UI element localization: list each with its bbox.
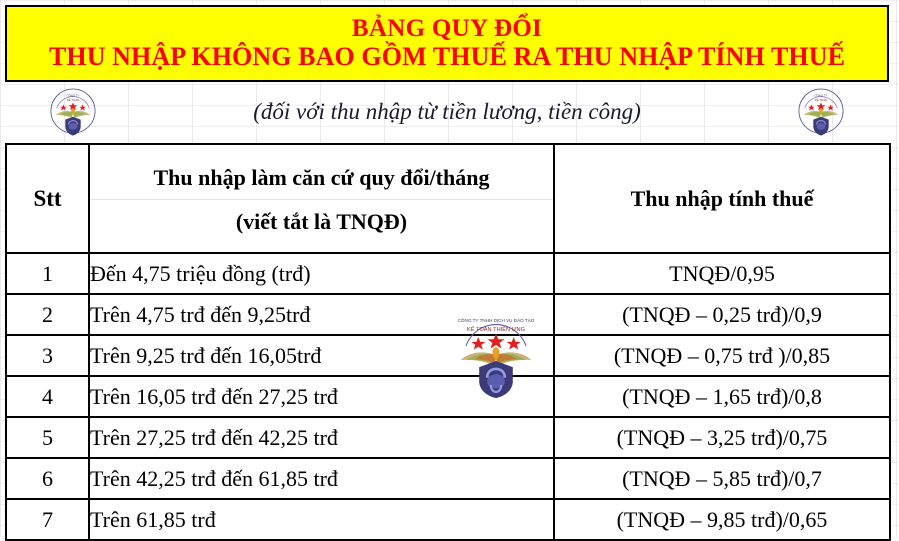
column-header-stt: Stt <box>6 144 89 253</box>
row-5-stt: 5 <box>6 417 89 458</box>
title-line-1: BẢNG QUY ĐỔI <box>352 15 542 42</box>
row-2-tax: (TNQĐ – 0,25 trđ)/0,9 <box>554 294 890 335</box>
row-7-tax: (TNQĐ – 9,85 trđ)/0,65 <box>554 499 890 540</box>
title-banner: BẢNG QUY ĐỔI THU NHẬP KHÔNG BAO GỒM THUẾ… <box>5 5 889 82</box>
row-1-base: Đến 4,75 triệu đồng (trđ) <box>89 253 554 294</box>
svg-text:CÔNG TY: CÔNG TY <box>66 93 79 98</box>
column-header-base-income-line2: (viết tắt là TNQĐ) <box>90 200 553 242</box>
row-6-tax: (TNQĐ – 5,85 trđ)/0,7 <box>554 458 890 499</box>
row-4-stt: 4 <box>6 376 89 417</box>
column-header-base-income: Thu nhập làm căn cứ quy đổi/tháng (viết … <box>89 144 554 253</box>
row-4-tax: (TNQĐ – 1,65 trđ)/0,8 <box>554 376 890 417</box>
row-6-stt: 6 <box>6 458 89 499</box>
subtitle-strip: CÔNG TY KẾ TOÁN (đối với thu nhập từ tiề… <box>5 84 889 140</box>
row-2-base: Trên 4,75 trđ đến 9,25trđ <box>89 294 554 335</box>
svg-text:KẾ TOÁN: KẾ TOÁN <box>67 97 80 102</box>
table-row: 7 Trên 61,85 trđ (TNQĐ – 9,85 trđ)/0,65 <box>6 499 890 540</box>
row-6-base: Trên 42,25 trđ đến 61,85 trđ <box>89 458 554 499</box>
table-row: 6 Trên 42,25 trđ đến 61,85 trđ (TNQĐ – 5… <box>6 458 890 499</box>
table-row: 3 Trên 9,25 trđ đến 16,05trđ (TNQĐ – 0,7… <box>6 335 890 376</box>
row-3-tax: (TNQĐ – 0,75 trđ )/0,85 <box>554 335 890 376</box>
table-row: 4 Trên 16,05 trđ đến 27,25 trđ (TNQĐ – 1… <box>6 376 890 417</box>
row-3-stt: 3 <box>6 335 89 376</box>
row-3-base: Trên 9,25 trđ đến 16,05trđ <box>89 335 554 376</box>
row-2-stt: 2 <box>6 294 89 335</box>
tax-conversion-table: Stt Thu nhập làm căn cứ quy đổi/tháng (v… <box>5 143 891 541</box>
table-row: 2 Trên 4,75 trđ đến 9,25trđ (TNQĐ – 0,25… <box>6 294 890 335</box>
title-line-2: THU NHẬP KHÔNG BAO GỒM THUẾ RA THU NHẬP … <box>49 43 845 71</box>
table-row: 1 Đến 4,75 triệu đồng (trđ) TNQĐ/0,95 <box>6 253 890 294</box>
row-5-tax: (TNQĐ – 3,25 trđ)/0,75 <box>554 417 890 458</box>
ke-toan-thien-ung-logo-right: CÔNG TY KẾ TOÁN <box>797 87 845 137</box>
row-7-stt: 7 <box>6 499 89 540</box>
page-root: BẢNG QUY ĐỔI THU NHẬP KHÔNG BAO GỒM THUẾ… <box>0 0 899 537</box>
row-1-stt: 1 <box>6 253 89 294</box>
svg-text:KẾ TOÁN: KẾ TOÁN <box>815 97 828 102</box>
row-5-base: Trên 27,25 trđ đến 42,25 trđ <box>89 417 554 458</box>
column-header-taxable-income: Thu nhập tính thuế <box>554 144 890 253</box>
subtitle-text: (đối với thu nhập từ tiền lương, tiền cô… <box>97 99 797 125</box>
svg-text:CÔNG TY: CÔNG TY <box>814 93 827 98</box>
table-row: 5 Trên 27,25 trđ đến 42,25 trđ (TNQĐ – 3… <box>6 417 890 458</box>
ke-toan-thien-ung-logo-left: CÔNG TY KẾ TOÁN <box>49 87 97 137</box>
column-header-base-income-line1: Thu nhập làm căn cứ quy đổi/tháng <box>90 155 553 199</box>
row-4-base: Trên 16,05 trđ đến 27,25 trđ <box>89 376 554 417</box>
table-header-row: Stt Thu nhập làm căn cứ quy đổi/tháng (v… <box>6 144 890 253</box>
row-1-tax: TNQĐ/0,95 <box>554 253 890 294</box>
row-7-base: Trên 61,85 trđ <box>89 499 554 540</box>
